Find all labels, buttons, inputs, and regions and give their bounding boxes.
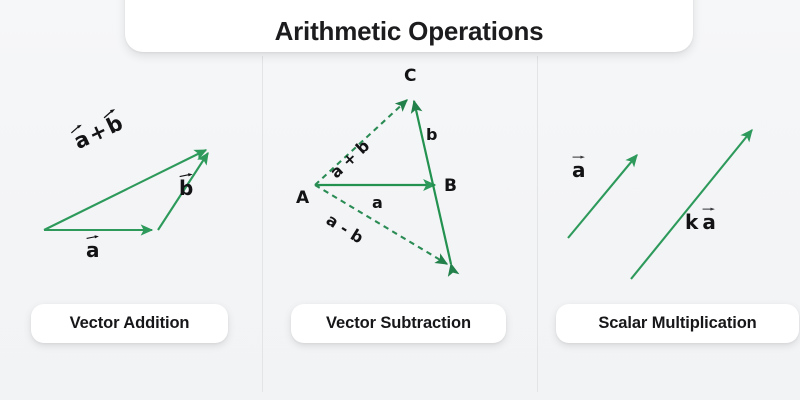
- panel-divider-2: [537, 56, 538, 392]
- arrow-accent-icon: [702, 204, 716, 214]
- label-vector-k-a: k a: [685, 210, 716, 232]
- vector-k-a-line: [631, 130, 752, 279]
- vector-subtraction-svg: [263, 52, 537, 300]
- caption-text: Vector Addition: [70, 314, 190, 333]
- label-vector-a: a: [372, 193, 383, 212]
- label-vector-b: b: [426, 125, 437, 144]
- panel-divider-1: [262, 56, 263, 392]
- caption-vector-subtraction: Vector Subtraction: [291, 304, 506, 343]
- point-label-A: A: [296, 188, 309, 208]
- vector-b-symbol: b: [179, 176, 193, 198]
- point-label-B: B: [444, 176, 457, 196]
- label-vector-b: b: [179, 176, 193, 198]
- canvas: Arithmetic Operations: [0, 0, 800, 400]
- panel-vector-subtraction: A B C b a a + b a - b Vector Subtraction: [263, 52, 537, 400]
- label-vector-a: a: [572, 158, 586, 180]
- caption-scalar-multiplication: Scalar Multiplication: [556, 304, 799, 343]
- arrow-accent-icon: [572, 152, 586, 162]
- scalar-k-symbol: k: [685, 210, 698, 234]
- vector-a-symbol: a: [702, 210, 716, 232]
- panel-scalar-multiplication: a k a Scalar Multiplication: [538, 52, 800, 400]
- arrow-accent-icon: [86, 232, 100, 242]
- caption-text: Vector Subtraction: [326, 314, 471, 333]
- panel-vector-addition: a b: [0, 52, 262, 400]
- vector-a-symbol: a: [572, 158, 586, 180]
- title-card: Arithmetic Operations: [125, 0, 693, 52]
- diagram-vector-addition: a b: [0, 52, 262, 300]
- caption-text: Scalar Multiplication: [598, 314, 756, 333]
- diagram-scalar-multiplication: a k a: [538, 52, 800, 300]
- point-label-C: C: [404, 66, 416, 86]
- vector-addition-svg: [0, 52, 262, 300]
- label-vector-a: a: [86, 238, 100, 260]
- page-title: Arithmetic Operations: [275, 18, 544, 44]
- caption-vector-addition: Vector Addition: [31, 304, 228, 343]
- vector-a-symbol: a: [86, 238, 100, 260]
- arrow-accent-icon: [179, 170, 193, 180]
- diagram-vector-subtraction: A B C b a a + b a - b: [263, 52, 537, 300]
